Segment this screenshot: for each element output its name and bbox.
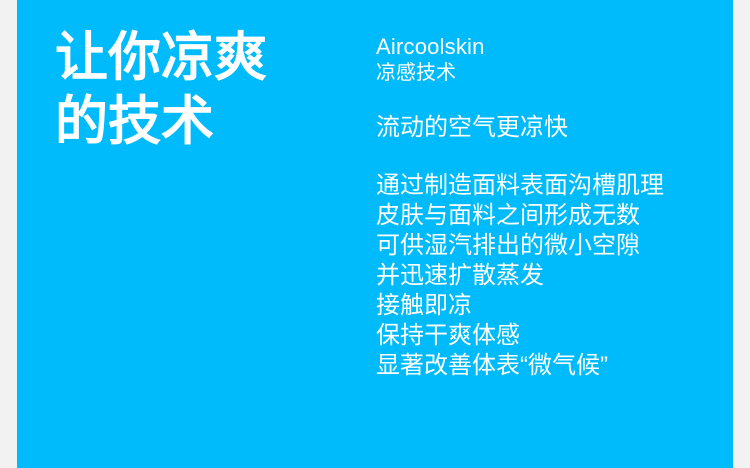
cyan-panel: 让你凉爽 的技术 Aircoolskin 凉感技术 流动的空气更凉快 通过制造面… <box>17 0 733 468</box>
brand-subtitle: 凉感技术 <box>376 60 706 86</box>
body-line: 接触即凉 <box>376 291 706 321</box>
headline: 让你凉爽 的技术 <box>55 26 355 154</box>
body-line: 并迅速扩散蒸发 <box>376 261 706 291</box>
promo-banner: 让你凉爽 的技术 Aircoolskin 凉感技术 流动的空气更凉快 通过制造面… <box>0 0 750 468</box>
copy-column: Aircoolskin 凉感技术 流动的空气更凉快 通过制造面料表面沟槽肌理 皮… <box>376 33 706 381</box>
headline-line-2: 的技术 <box>55 90 355 154</box>
body-line: 皮肤与面料之间形成无数 <box>376 201 706 231</box>
body-line: 保持干爽体感 <box>376 321 706 351</box>
body-text-block: 通过制造面料表面沟槽肌理 皮肤与面料之间形成无数 可供湿汽排出的微小空隙 并迅速… <box>376 171 706 381</box>
body-line: 通过制造面料表面沟槽肌理 <box>376 171 706 201</box>
tagline: 流动的空气更凉快 <box>376 113 706 143</box>
body-line: 可供湿汽排出的微小空隙 <box>376 231 706 261</box>
headline-line-1: 让你凉爽 <box>55 26 355 90</box>
brand-name: Aircoolskin <box>376 33 706 60</box>
body-line: 显著改善体表“微气候” <box>376 351 706 381</box>
